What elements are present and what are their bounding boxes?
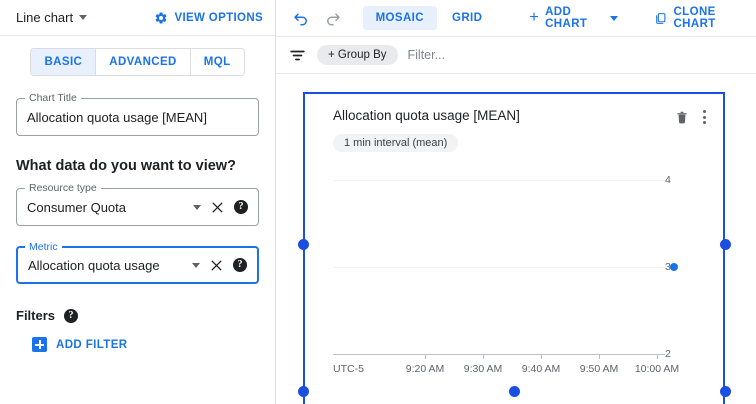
xtick-mark-3	[541, 354, 542, 359]
chart-title-label: Chart Title	[25, 92, 81, 105]
config-panel-header: Line chart VIEW OPTIONS	[0, 0, 275, 36]
resource-type-help-button[interactable]: ?	[234, 200, 248, 214]
layout-mode-grid[interactable]: GRID	[439, 6, 495, 30]
copy-icon	[654, 11, 667, 26]
help-icon: ?	[234, 200, 248, 214]
add-chart-button[interactable]: + ADD CHART	[523, 0, 624, 36]
resize-handle-bottom-right[interactable]	[720, 386, 731, 397]
interval-chip: 1 min interval (mean)	[333, 134, 458, 152]
chart-card-header: Allocation quota usage [MEAN]	[305, 94, 723, 125]
close-icon	[211, 201, 224, 214]
metric-value: Allocation quota usage	[28, 258, 192, 273]
view-options-label: VIEW OPTIONS	[174, 12, 263, 24]
data-point[interactable]	[670, 263, 678, 271]
chart-title-value: Allocation quota usage [MEAN]	[27, 110, 250, 125]
redo-icon	[324, 9, 342, 27]
gridline-y-3	[333, 267, 665, 268]
gridline-y-4	[333, 180, 665, 181]
layout-mode-mosaic[interactable]: MOSAIC	[363, 6, 437, 30]
resize-handle-right[interactable]	[720, 239, 731, 250]
xtick-mark-2	[483, 354, 484, 359]
resource-type-field[interactable]: Resource type Consumer Quota ?	[16, 188, 259, 226]
resize-handle-left[interactable]	[298, 239, 309, 250]
chart-card-actions	[675, 108, 707, 125]
clone-chart-button[interactable]: CLONE CHART	[648, 0, 756, 36]
monitoring-chart-editor: Line chart VIEW OPTIONS BASIC ADVANCED M…	[0, 0, 756, 404]
resource-type-controls: ?	[193, 200, 250, 214]
close-icon	[210, 259, 223, 272]
xtick-label-3: 9:40 AM	[522, 363, 561, 375]
plus-icon: +	[529, 10, 539, 26]
metric-dropdown-button[interactable]	[192, 263, 200, 268]
config-tabs-wrapper: BASIC ADVANCED MQL	[0, 36, 275, 76]
chart-title-field[interactable]: Chart Title Allocation quota usage [MEAN…	[16, 98, 259, 136]
resource-type-dropdown-button[interactable]	[193, 205, 201, 210]
kebab-menu-icon[interactable]	[703, 109, 707, 125]
filter-icon[interactable]	[288, 46, 307, 65]
chevron-down-icon	[193, 205, 201, 210]
metric-help-button[interactable]: ?	[233, 258, 247, 272]
trash-icon[interactable]	[675, 110, 689, 125]
tab-advanced[interactable]: ADVANCED	[96, 49, 191, 75]
chevron-down-icon	[610, 16, 618, 21]
chart-plot-area: 4 3 2 UTC-5 9:20 AM 9:30 A	[333, 180, 709, 392]
redo-button[interactable]	[320, 3, 346, 33]
xtick-label-1: 9:20 AM	[406, 363, 445, 375]
chart-card[interactable]: Allocation quota usage [MEAN] 1 min inte…	[303, 92, 725, 404]
chart-type-dropdown[interactable]: Line chart	[16, 10, 87, 25]
add-filter-label: ADD FILTER	[56, 339, 128, 351]
resource-type-label: Resource type	[25, 182, 101, 195]
metric-clear-button[interactable]	[210, 259, 223, 272]
xtick-label-4: 9:50 AM	[580, 363, 619, 375]
chart-card-title: Allocation quota usage [MEAN]	[333, 108, 675, 123]
resize-handle-bottom-left[interactable]	[298, 386, 309, 397]
chart-config-panel: Line chart VIEW OPTIONS BASIC ADVANCED M…	[0, 0, 276, 404]
xtick-mark-5	[657, 354, 658, 359]
filters-help-button[interactable]: ?	[64, 309, 78, 323]
tab-basic[interactable]: BASIC	[31, 49, 96, 75]
metric-label: Metric	[25, 241, 62, 254]
view-options-button[interactable]: VIEW OPTIONS	[154, 11, 263, 25]
config-tabs: BASIC ADVANCED MQL	[30, 48, 244, 76]
ytick-label-4: 4	[665, 174, 695, 186]
metric-field[interactable]: Metric Allocation quota usage ?	[16, 246, 259, 284]
dashboard-toolbar: MOSAIC GRID + ADD CHART CLONE CHART	[276, 0, 756, 37]
clone-chart-label: CLONE CHART	[673, 6, 750, 30]
xtick-label-2: 9:30 AM	[464, 363, 503, 375]
ytick-label-2: 2	[665, 348, 695, 360]
resource-type-value: Consumer Quota	[27, 200, 193, 215]
resize-handle-bottom[interactable]	[509, 386, 520, 397]
help-icon: ?	[64, 309, 78, 323]
filters-section-header: Filters ?	[16, 308, 259, 323]
gear-icon	[154, 11, 168, 25]
group-by-chip[interactable]: + Group By	[317, 45, 398, 65]
xtick-mark-1	[425, 354, 426, 359]
filters-label: Filters	[16, 308, 55, 323]
x-axis-line	[333, 354, 665, 355]
help-icon: ?	[233, 258, 247, 272]
xtick-label-5: 10:00 AM	[635, 363, 679, 375]
undo-button[interactable]	[288, 3, 314, 33]
resource-type-clear-button[interactable]	[211, 201, 224, 214]
add-filter-button[interactable]: ADD FILTER	[32, 337, 259, 352]
tab-mql[interactable]: MQL	[191, 49, 244, 75]
plus-box-icon	[32, 337, 47, 352]
chevron-down-icon	[79, 15, 87, 20]
add-chart-label: ADD CHART	[545, 6, 604, 30]
metric-controls: ?	[192, 258, 249, 272]
dashboard-filter-bar: + Group By	[276, 37, 756, 74]
xtick-mark-4	[599, 354, 600, 359]
dashboard-area: MOSAIC GRID + ADD CHART CLONE CHART + Gr…	[276, 0, 756, 404]
xtick-label-timezone: UTC-5	[333, 363, 364, 375]
data-question-heading: What data do you want to view?	[16, 158, 259, 174]
filter-input[interactable]	[408, 48, 756, 62]
chevron-down-icon	[192, 263, 200, 268]
undo-icon	[292, 9, 310, 27]
chart-canvas: Allocation quota usage [MEAN] 1 min inte…	[276, 75, 756, 404]
chart-type-label: Line chart	[16, 10, 73, 25]
